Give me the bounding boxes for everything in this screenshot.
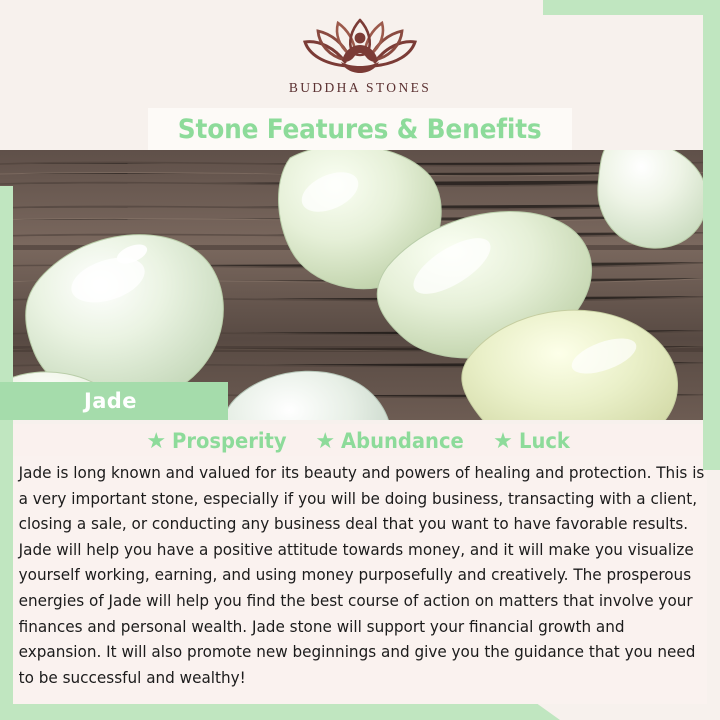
description-text: Jade is long known and valued for its be… [13,456,716,690]
photo-artwork [0,150,720,420]
star-icon: ★ [146,430,166,452]
brand-name: BUDDHA STONES [289,80,431,96]
star-icon: ★ [315,430,335,452]
benefits-row: ★ Prosperity ★ Abundance ★ Luck [0,424,720,458]
benefit-label: Luck [519,429,570,453]
headline-bar: Stone Features & Benefits [148,108,572,150]
brand-logo-block: BUDDHA STONES [0,0,720,108]
star-icon: ★ [493,430,513,452]
benefit-label: Abundance [341,429,464,453]
decorative-green-strip-left [0,186,13,706]
page-title: Stone Features & Benefits [178,114,542,145]
decorative-green-band-bottom [0,704,560,720]
benefit-item-luck: ★ Luck [493,429,573,453]
benefit-item-prosperity: ★ Prosperity [146,429,295,453]
stone-features-infographic: BUDDHA STONES Stone Features & Benefits [0,0,720,720]
benefit-label: Prosperity [172,429,287,453]
benefit-item-abundance: ★ Abundance [315,429,473,453]
description-panel: Jade is long known and valued for its be… [13,456,707,704]
jade-tumbled-stones-photo [0,150,720,420]
stone-name-band: Jade [0,382,228,420]
lotus-meditation-icon [301,14,419,76]
stone-name: Jade [84,389,137,413]
